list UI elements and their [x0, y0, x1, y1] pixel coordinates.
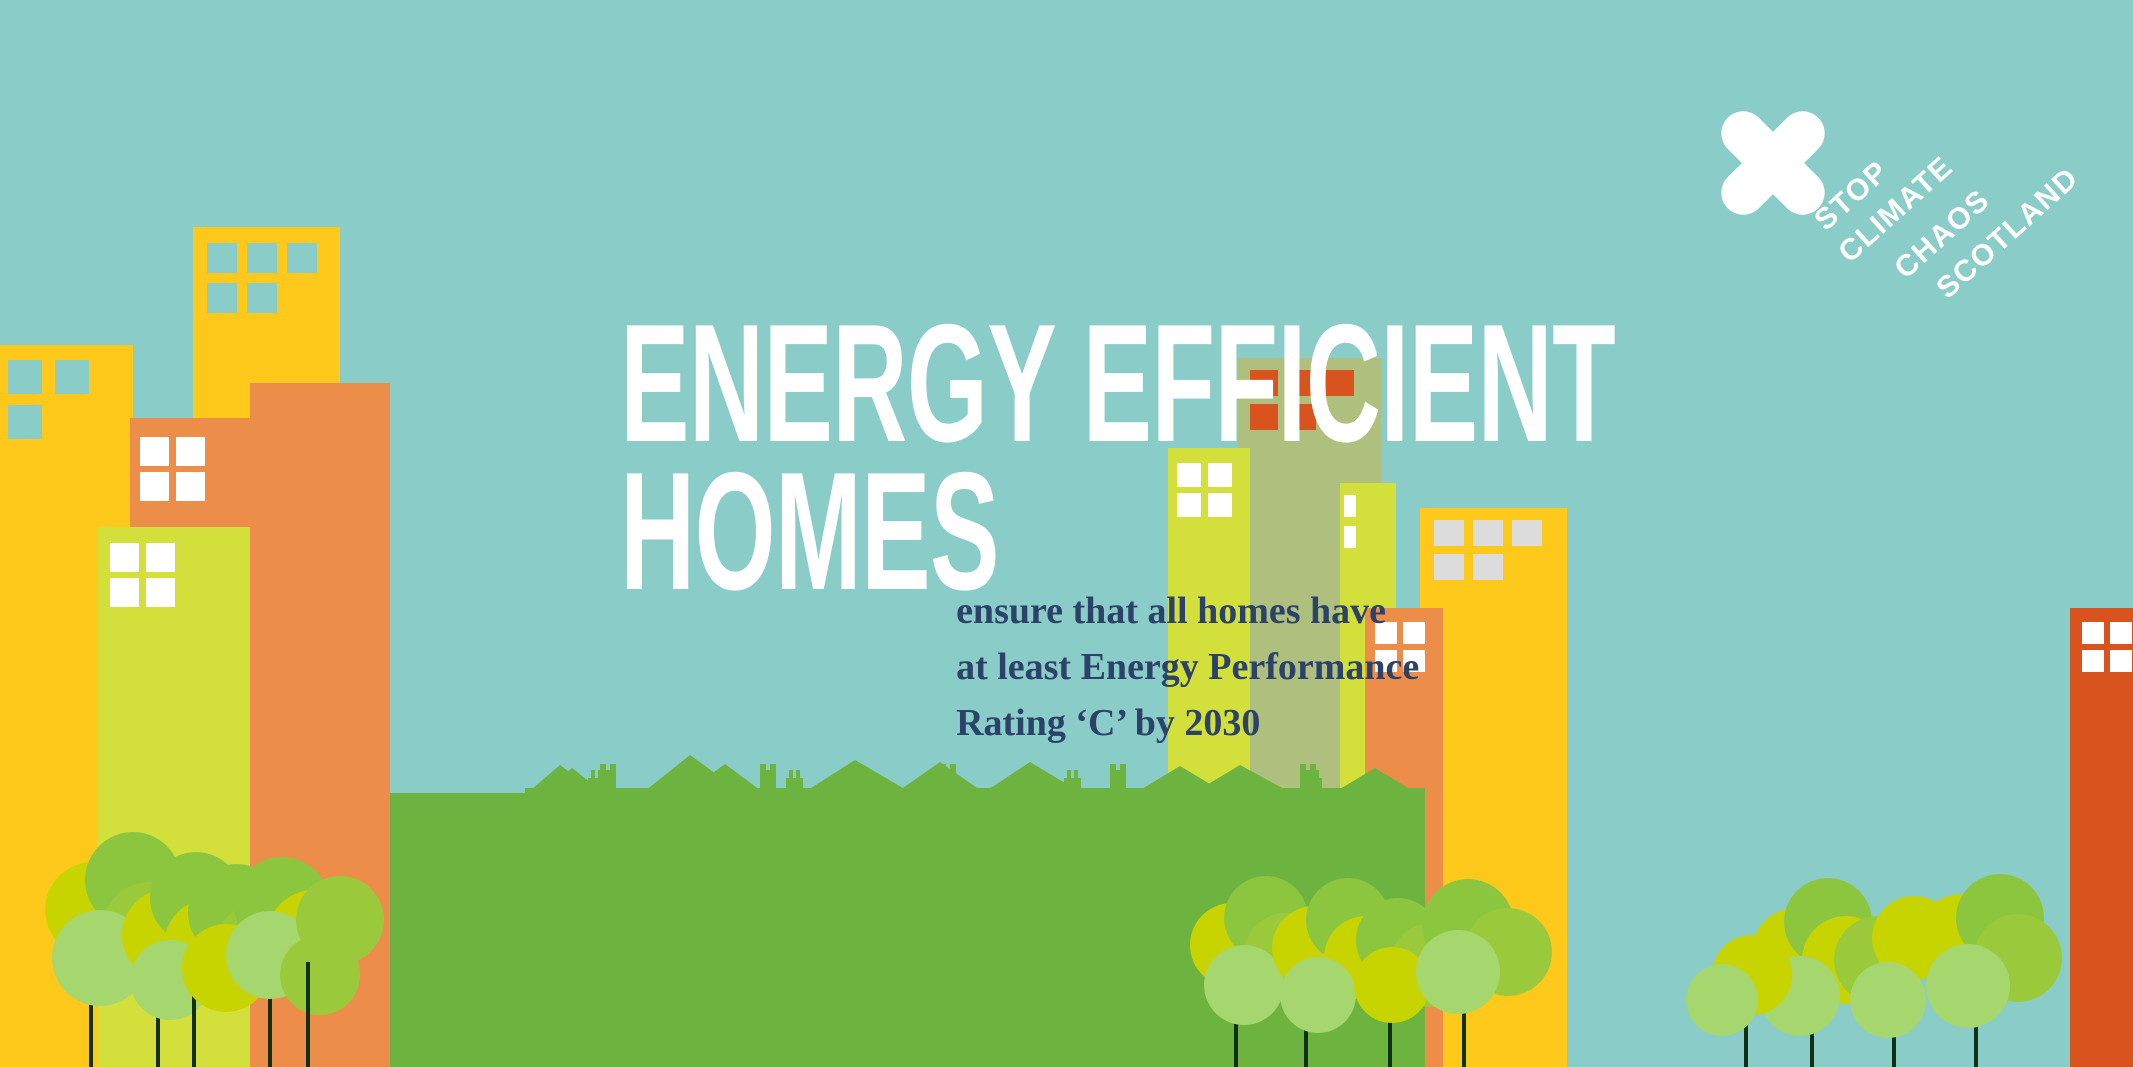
logo-wordmark: STOP CLIMATE CHAOS SCOTLAND	[1825, 76, 2075, 256]
energy-efficient-homes-banner: ENERGY EFFICIENT HOMES ensure that all h…	[0, 0, 2133, 1067]
headline-block: ENERGY EFFICIENT HOMES ensure that all h…	[620, 315, 1500, 751]
grass-band-left-fill	[390, 793, 530, 1067]
headline-line-1: ENERGY EFFICIENT	[620, 315, 1166, 453]
subhead-text: ensure that all homes have at least Ener…	[956, 583, 1500, 752]
stop-climate-chaos-scotland-logo[interactable]: STOP CLIMATE CHAOS SCOTLAND	[1713, 70, 2073, 260]
headline-line-2: HOMES	[620, 463, 999, 601]
building-dark-orange-edge-tower	[2070, 608, 2133, 1067]
